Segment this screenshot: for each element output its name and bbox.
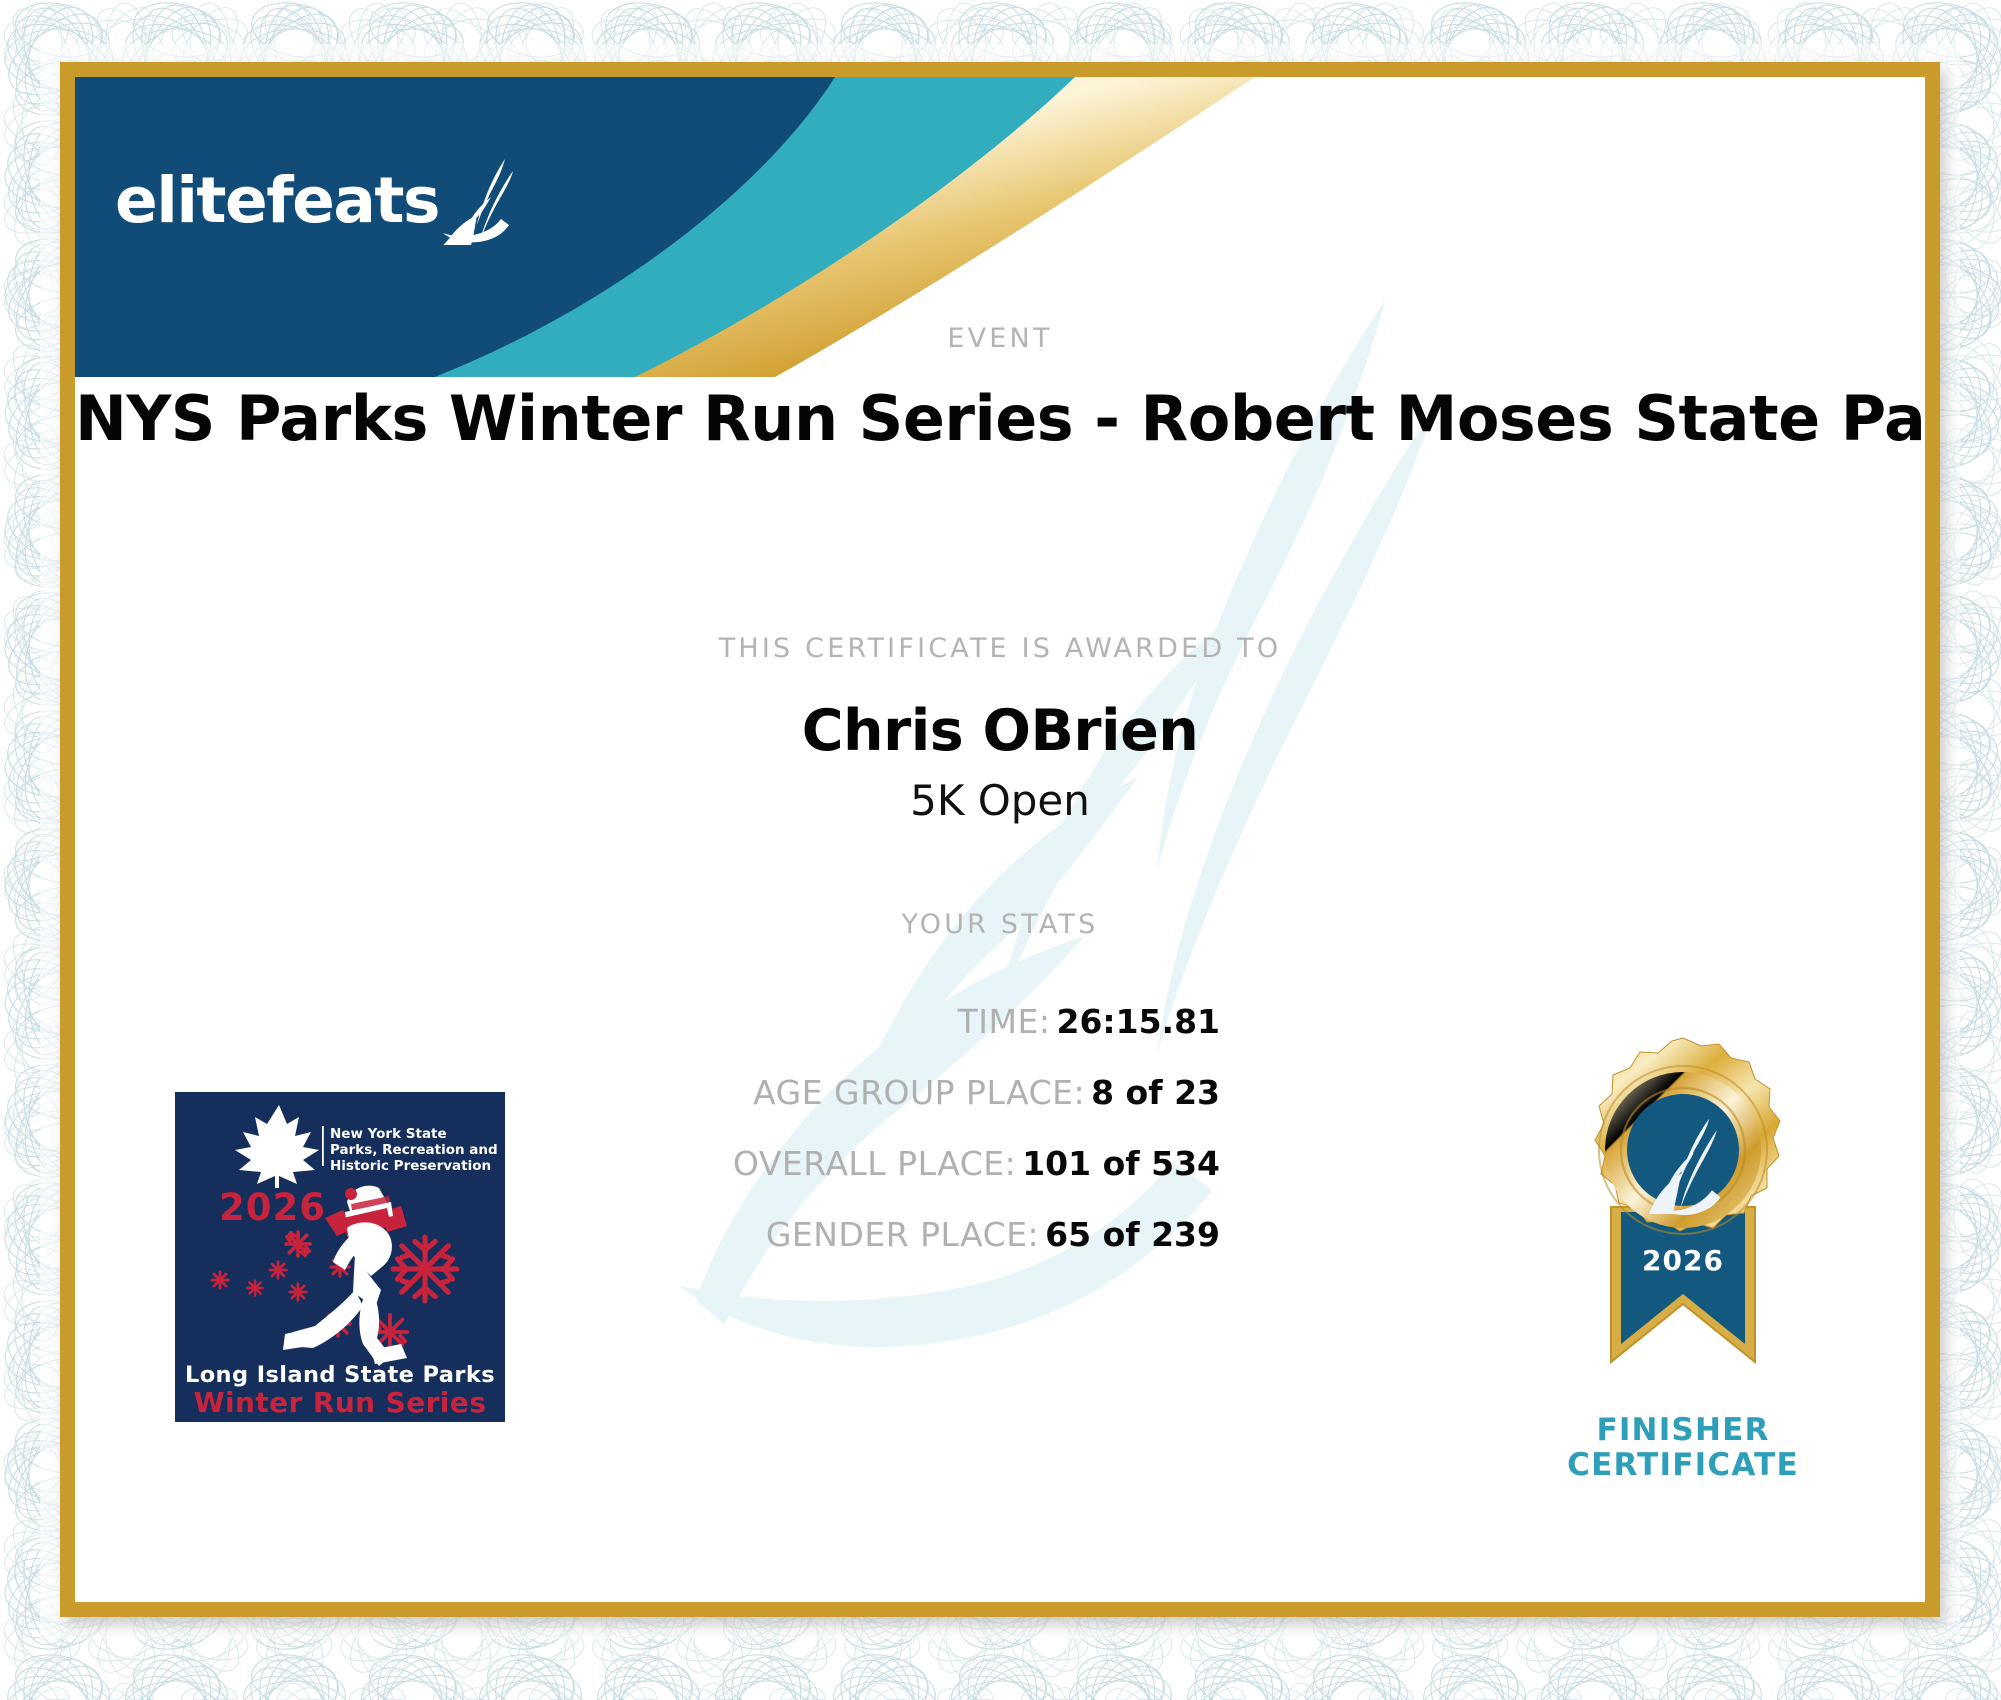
svg-text:Historic Preservation: Historic Preservation xyxy=(330,1158,491,1174)
medal-caption: FINISHER CERTIFICATE xyxy=(1523,1413,1843,1482)
winged-foot-icon xyxy=(441,155,519,245)
recipient-division: 5K Open xyxy=(75,776,1925,825)
stat-value: 26:15.81 xyxy=(1056,1002,1220,1041)
certificate-frame: elitefeats EVENT NYS Parks Winter Run Se… xyxy=(60,62,1940,1617)
stat-row-age-group-place: AGE GROUP PLACE:8 of 23 xyxy=(600,1073,1220,1112)
stat-value: 65 of 239 xyxy=(1045,1215,1220,1254)
svg-text:New York State: New York State xyxy=(330,1126,447,1142)
brand-wordmark: elitefeats xyxy=(115,169,439,232)
brand-logo: elitefeats xyxy=(115,155,519,245)
svg-text:Long Island State Parks: Long Island State Parks xyxy=(185,1362,495,1388)
stat-row-time: TIME:26:15.81 xyxy=(600,1002,1220,1041)
awarded-to-kicker: THIS CERTIFICATE IS AWARDED TO xyxy=(75,633,1925,664)
medal-caption-line2: CERTIFICATE xyxy=(1523,1448,1843,1483)
stat-row-gender-place: GENDER PLACE:65 of 239 xyxy=(600,1215,1220,1254)
ribbon-icon: 2026 xyxy=(1611,1207,1755,1362)
finisher-medal: 2026 FINISHER CERTIFIC xyxy=(1523,1032,1843,1482)
stat-label: GENDER PLACE: xyxy=(766,1215,1039,1254)
svg-text:2026: 2026 xyxy=(219,1186,326,1229)
event-title: NYS Parks Winter Run Series - Robert Mos… xyxy=(75,382,1925,455)
stat-label: AGE GROUP PLACE: xyxy=(753,1073,1085,1112)
your-stats-kicker: YOUR STATS xyxy=(75,909,1925,940)
gold-rosette-icon xyxy=(1595,1038,1780,1234)
stat-label: TIME: xyxy=(958,1002,1051,1041)
stat-value: 8 of 23 xyxy=(1091,1073,1220,1112)
svg-text:Parks, Recreation and: Parks, Recreation and xyxy=(330,1142,498,1158)
event-kicker: EVENT xyxy=(75,323,1925,354)
stats-list: TIME:26:15.81 AGE GROUP PLACE:8 of 23 OV… xyxy=(600,1002,1220,1254)
medal-caption-line1: FINISHER xyxy=(1523,1413,1843,1448)
stat-label: OVERALL PLACE: xyxy=(733,1144,1016,1183)
svg-text:2026: 2026 xyxy=(1642,1244,1724,1277)
recipient-name: Chris OBrien xyxy=(75,698,1925,764)
event-logo: New York State Parks, Recreation and His… xyxy=(175,1092,505,1422)
stat-value: 101 of 534 xyxy=(1022,1144,1220,1183)
stat-row-overall-place: OVERALL PLACE:101 of 534 xyxy=(600,1144,1220,1183)
svg-text:Winter Run Series: Winter Run Series xyxy=(194,1386,487,1419)
